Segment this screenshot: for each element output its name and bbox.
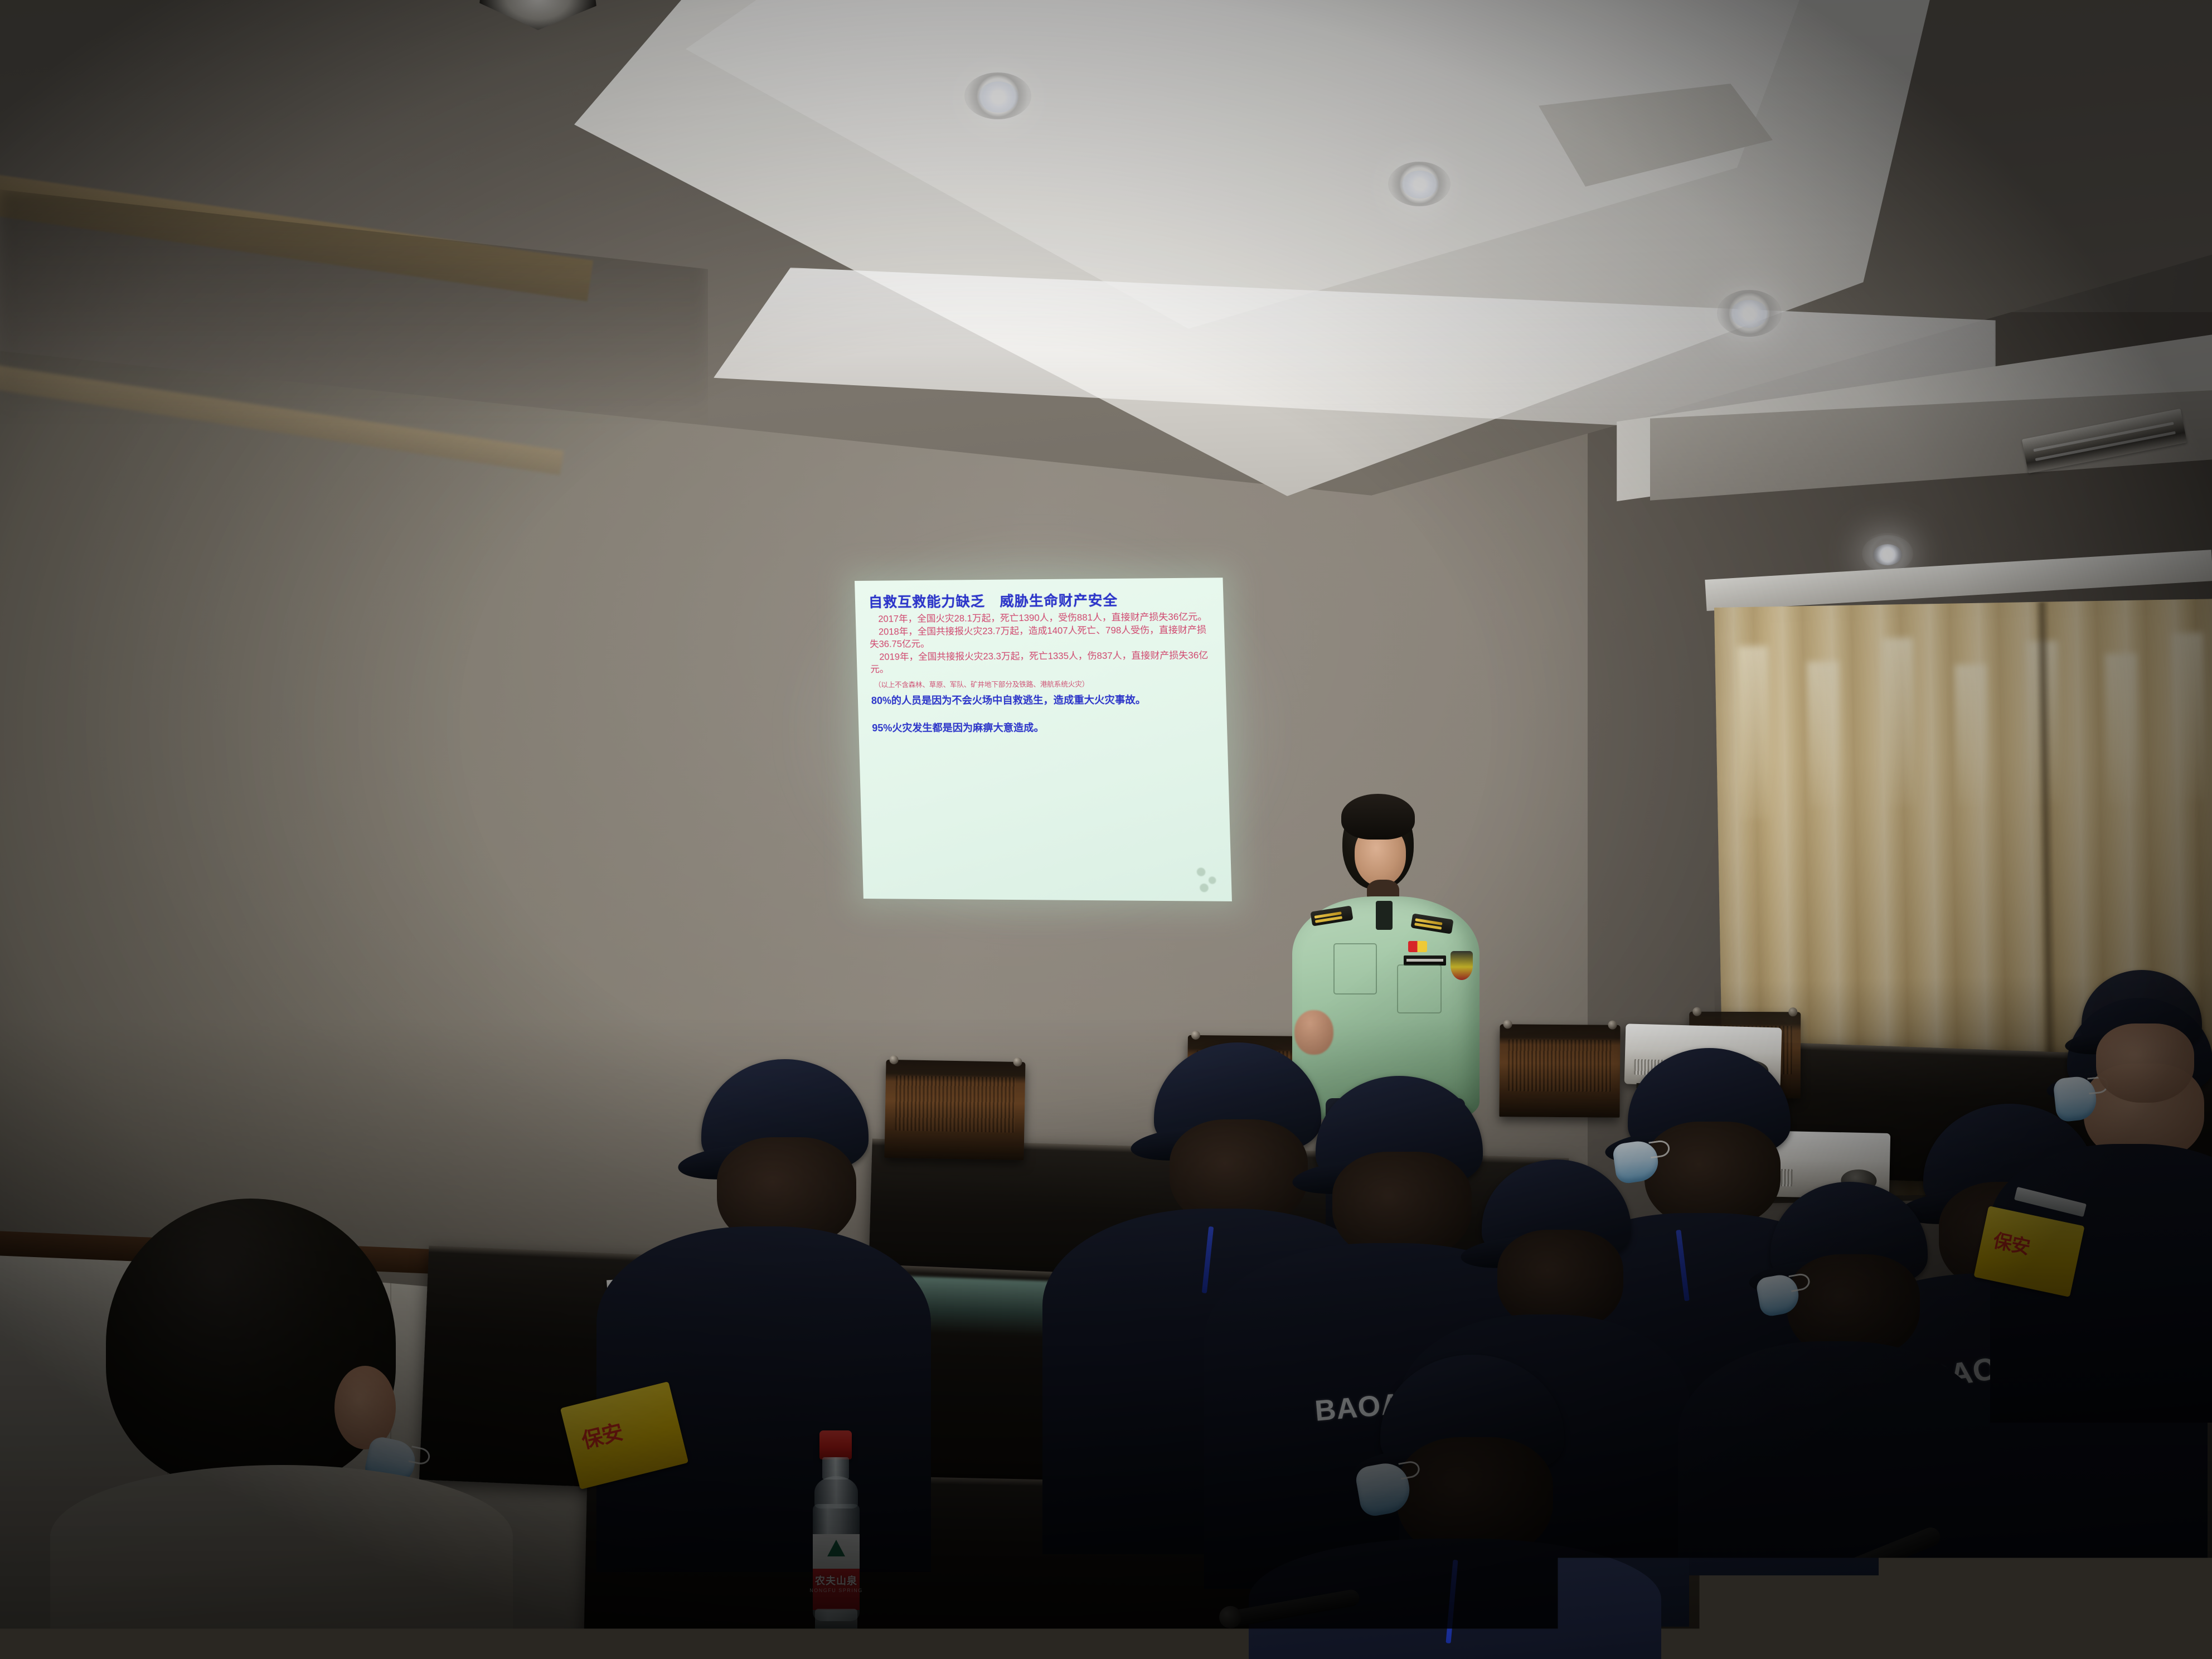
presenter-rank-badge <box>1408 941 1427 952</box>
slide-paragraph: 2019年，全国共接报火灾23.3万起，死亡1335人，伤837人，直接财产损失… <box>870 649 1212 676</box>
bottle-base <box>815 1609 857 1634</box>
armband-text: 保安 <box>1991 1225 2032 1260</box>
slide-title-left: 自救互救能力缺乏 <box>869 594 986 610</box>
mountain-logo-icon <box>827 1540 845 1556</box>
ceiling-downlight-1 <box>978 81 1018 113</box>
attendee-shirt <box>50 1465 513 1659</box>
ceiling-downlight-2 <box>1401 171 1438 198</box>
slide-paragraph: 2018年，全国共接报火灾23.7万起，造成1407人死亡、798人受伤，直接财… <box>869 624 1212 651</box>
ceiling-downlight-3 <box>1730 300 1768 328</box>
presenter-chest-pocket-right <box>1397 964 1442 1013</box>
ceiling-downlight-4 <box>1873 544 1902 565</box>
lecture-room-photo: 自救互救能力缺乏威胁生命财产安全 2017年，全国火灾28.1万起，死亡1390… <box>0 0 2212 1659</box>
slide-title-right: 威胁生命财产安全 <box>1000 593 1118 609</box>
slide-highlight-1: 80%的人员是因为不会火场中自救逃生，造成重大火灾事故。 <box>871 693 1214 708</box>
presenter-hair <box>1341 794 1415 840</box>
armband-text: 保安 <box>578 1415 625 1454</box>
chair[interactable] <box>884 1060 1025 1160</box>
slide-paragraph: 2017年，全国火灾28.1万起，死亡1390人，受伤881人，直接财产损失36… <box>869 610 1211 625</box>
slide-highlight-2: 95%火灾发生都是因为麻痹大意造成。 <box>872 721 1215 735</box>
attendee-foreground-right <box>1282 1355 1628 1659</box>
projected-slide: 自救互救能力缺乏威胁生命财产安全 2017年，全国火灾28.1万起，死亡1390… <box>855 578 1232 901</box>
attendee-ear <box>334 1366 396 1449</box>
bottle-brand-cn: 农夫山泉 <box>809 1573 863 1588</box>
presenter-chest-pocket-left <box>1333 943 1377 995</box>
foreground-attendee <box>72 1199 507 1659</box>
presenter-collar-gap <box>1376 901 1393 930</box>
bottle-brand-en: NONGFU SPRING <box>809 1588 863 1593</box>
attendee-guard-rear <box>2040 970 2212 1210</box>
water-bottle[interactable]: 农夫山泉 NONGFU SPRING <box>809 1430 863 1642</box>
slide-body: 2017年，全国火灾28.1万起，死亡1390人，受伤881人，直接财产损失36… <box>869 610 1213 676</box>
slide-footnote: （以上不含森林、草原、军队、矿井地下部分及铁路、港航系统火灾） <box>874 677 1213 689</box>
slide-watermark-icon <box>1191 864 1224 895</box>
slide-title: 自救互救能力缺乏威胁生命财产安全 <box>869 593 1211 610</box>
presenter-shoulder-patch <box>1451 951 1473 980</box>
guard-head <box>2096 1023 2194 1103</box>
guard-jacket <box>1678 1341 1990 1659</box>
bottle-cap <box>819 1430 852 1459</box>
